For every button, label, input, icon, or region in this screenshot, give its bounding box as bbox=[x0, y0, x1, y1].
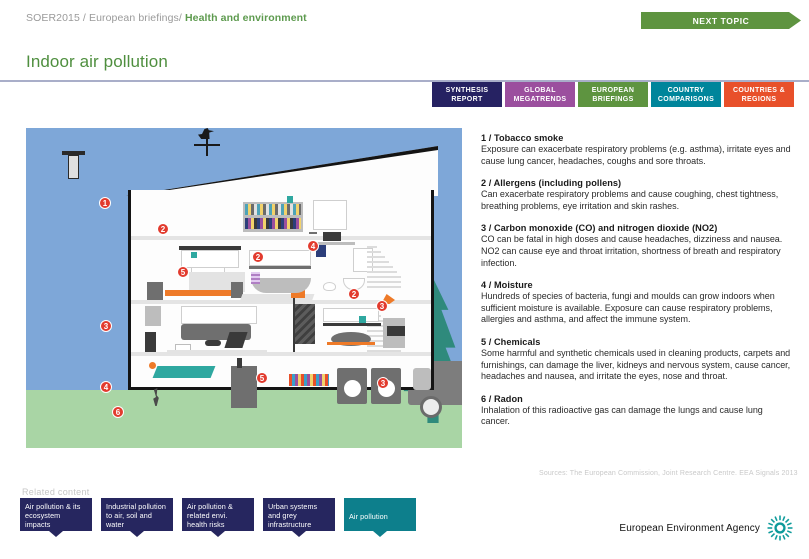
tab-synthesis[interactable]: SYNTHESISREPORT bbox=[432, 82, 502, 107]
tab-label-line2: BRIEFINGS bbox=[592, 95, 633, 104]
hotspot-marker-5[interactable]: 5 bbox=[177, 266, 189, 278]
towel bbox=[251, 272, 260, 284]
pollutant-description: Inhalation of this radioactive gas can d… bbox=[481, 405, 793, 428]
slide-root: SOER2015 / European briefings/ Health an… bbox=[0, 0, 809, 559]
tab-label-line2: REGIONS bbox=[742, 95, 777, 104]
related-content-button[interactable]: Air pollution & related envi. health ris… bbox=[182, 498, 254, 531]
house-shell bbox=[128, 190, 434, 390]
hotspot-marker-2[interactable]: 2 bbox=[157, 223, 169, 235]
dining-window bbox=[323, 308, 379, 322]
bedroom-window bbox=[181, 250, 239, 268]
related-content-button[interactable]: Urban systems and grey infrastructure bbox=[263, 498, 335, 531]
related-content-button[interactable]: Air pollution & its ecosystem impacts bbox=[20, 498, 92, 531]
weathervane-crossbar bbox=[194, 144, 220, 146]
plant-attic bbox=[287, 196, 293, 203]
related-content-item[interactable]: Urban systems and grey infrastructure bbox=[263, 498, 335, 531]
related-content-tail bbox=[211, 531, 225, 537]
related-content-item[interactable]: Industrial pollution to air, soil and wa… bbox=[101, 498, 173, 531]
car-wheel-front bbox=[420, 396, 442, 418]
tab-label-line2: REPORT bbox=[451, 95, 482, 104]
living-room-window bbox=[181, 306, 257, 324]
related-content-button[interactable]: Air pollution bbox=[344, 498, 416, 531]
pollutant-description: CO can be fatal in high doses and cause … bbox=[481, 234, 793, 269]
fireplace bbox=[145, 332, 156, 352]
hotspot-marker-4[interactable]: 4 bbox=[307, 240, 319, 252]
bed-blanket bbox=[165, 290, 235, 296]
toilet bbox=[323, 282, 336, 291]
chimney bbox=[68, 155, 79, 179]
hotspot-marker-2[interactable]: 2 bbox=[348, 288, 360, 300]
pollutant-heading: 5 / Chemicals bbox=[481, 337, 793, 347]
related-content-tail bbox=[49, 531, 63, 537]
boiler bbox=[231, 366, 257, 408]
related-content-button[interactable]: Industrial pollution to air, soil and wa… bbox=[101, 498, 173, 531]
pollutant-heading: 3 / Carbon monoxide (CO) and nitrogen di… bbox=[481, 223, 793, 233]
pollutant-heading: 1 / Tobacco smoke bbox=[481, 133, 793, 143]
related-content-item[interactable]: Air pollution & related envi. health ris… bbox=[182, 498, 254, 531]
washing-machine-drum bbox=[344, 380, 361, 397]
hotspot-marker-6[interactable]: 6 bbox=[112, 406, 124, 418]
pollutant-info-item: 4 / MoistureHundreds of species of bacte… bbox=[481, 280, 793, 326]
related-content-item[interactable]: Air pollution & its ecosystem impacts bbox=[20, 498, 92, 531]
monitor bbox=[323, 232, 341, 241]
floor-divider-attic bbox=[131, 236, 431, 240]
related-content-tail bbox=[130, 531, 144, 537]
related-content-tail bbox=[292, 531, 306, 537]
pollutant-info-item: 5 / ChemicalsSome harmful and synthetic … bbox=[481, 337, 793, 383]
tab-european[interactable]: EUROPEANBRIEFINGS bbox=[578, 82, 648, 107]
cleaning-products bbox=[289, 374, 329, 386]
dining-window-ledge bbox=[323, 323, 381, 326]
sources-note: Sources: The European Commission, Joint … bbox=[539, 470, 798, 477]
kitchen-hob bbox=[387, 326, 405, 336]
boiler-flue bbox=[237, 358, 242, 368]
dining-plant bbox=[359, 316, 366, 323]
agency-name: European Environment Agency bbox=[619, 523, 760, 534]
eea-logo: European Environment Agency bbox=[619, 515, 793, 541]
hotspot-marker-3[interactable]: 3 bbox=[376, 300, 388, 312]
hotspot-marker-2[interactable]: 2 bbox=[252, 251, 264, 263]
garage-door-shape bbox=[413, 368, 431, 390]
desk-lamp bbox=[309, 232, 317, 234]
tab-country[interactable]: COUNTRYCOMPARISONS bbox=[651, 82, 721, 107]
books-row-top bbox=[245, 204, 301, 215]
bedroom-plant bbox=[191, 252, 197, 258]
pollutant-info-list: 1 / Tobacco smokeExposure can exacerbate… bbox=[481, 133, 793, 439]
pollutant-description: Hundreds of species of bacteria, fungi a… bbox=[481, 291, 793, 326]
ottoman bbox=[205, 340, 221, 346]
armchair bbox=[224, 332, 247, 348]
tab-label-line2: MEGATRENDS bbox=[514, 95, 567, 104]
breadcrumb: SOER2015 / European briefings/ Health an… bbox=[26, 12, 307, 24]
breadcrumb-current[interactable]: Health and environment bbox=[185, 12, 307, 24]
eea-sunburst-icon bbox=[767, 515, 793, 541]
pollutant-heading: 6 / Radon bbox=[481, 394, 793, 404]
bedside-cabinet bbox=[147, 282, 163, 300]
books-row-bottom bbox=[245, 218, 301, 229]
page-title: Indoor air pollution bbox=[26, 52, 168, 72]
tab-label-line1: COUNTRIES & bbox=[733, 86, 785, 95]
pollutant-heading: 2 / Allergens (including pollens) bbox=[481, 178, 793, 188]
next-topic-button[interactable]: NEXT TOPIC bbox=[641, 12, 801, 29]
tab-label-line1: GLOBAL bbox=[524, 86, 556, 95]
attic-window-right bbox=[313, 200, 347, 230]
hotspot-marker-1[interactable]: 1 bbox=[99, 197, 111, 209]
related-content-item[interactable]: Air pollution bbox=[344, 498, 416, 531]
bathtub bbox=[251, 278, 311, 293]
tab-label-line1: EUROPEAN bbox=[592, 86, 634, 95]
pollutant-info-item: 1 / Tobacco smokeExposure can exacerbate… bbox=[481, 133, 793, 167]
section-tabs: SYNTHESISREPORTGLOBALMEGATRENDSEUROPEANB… bbox=[432, 82, 794, 107]
pollutant-description: Can exacerbate respiratory problems and … bbox=[481, 189, 793, 212]
breadcrumb-prefix[interactable]: SOER2015 / European briefings/ bbox=[26, 12, 182, 24]
pollutant-description: Some harmful and synthetic chemicals use… bbox=[481, 348, 793, 383]
staircase-upper bbox=[367, 246, 401, 291]
next-topic-label: NEXT TOPIC bbox=[693, 16, 750, 26]
tab-label-line1: SYNTHESIS bbox=[446, 86, 489, 95]
hotspot-marker-4[interactable]: 4 bbox=[100, 381, 112, 393]
laundry-basket bbox=[149, 362, 156, 369]
living-room-rug bbox=[167, 350, 267, 354]
pollutant-heading: 4 / Moisture bbox=[481, 280, 793, 290]
hotspot-marker-3[interactable]: 3 bbox=[100, 320, 112, 332]
related-content-label: Related content bbox=[22, 487, 90, 497]
wall-art bbox=[145, 306, 161, 326]
tab-label-line1: COUNTRY bbox=[668, 86, 705, 95]
hotspot-marker-3[interactable]: 3 bbox=[377, 377, 389, 389]
related-content-tail bbox=[373, 531, 387, 537]
washing-line bbox=[153, 366, 216, 378]
pollutant-info-item: 3 / Carbon monoxide (CO) and nitrogen di… bbox=[481, 223, 793, 269]
pollutant-description: Exposure can exacerbate respiratory prob… bbox=[481, 144, 793, 167]
tab-countries[interactable]: COUNTRIES &REGIONS bbox=[724, 82, 794, 107]
hotspot-marker-5[interactable]: 5 bbox=[256, 372, 268, 384]
door-dark bbox=[295, 304, 315, 344]
tab-global[interactable]: GLOBALMEGATRENDS bbox=[505, 82, 575, 107]
related-content-row: Air pollution & its ecosystem impactsInd… bbox=[20, 498, 416, 531]
pollutant-info-item: 2 / Allergens (including pollens)Can exa… bbox=[481, 178, 793, 212]
tab-label-line2: COMPARISONS bbox=[658, 95, 714, 104]
dining-chairs bbox=[327, 342, 375, 345]
bathroom-ledge bbox=[249, 266, 311, 269]
pollutant-info-item: 6 / RadonInhalation of this radioactive … bbox=[481, 394, 793, 428]
illustration-house-cross-section: 122452334563 bbox=[26, 128, 462, 448]
